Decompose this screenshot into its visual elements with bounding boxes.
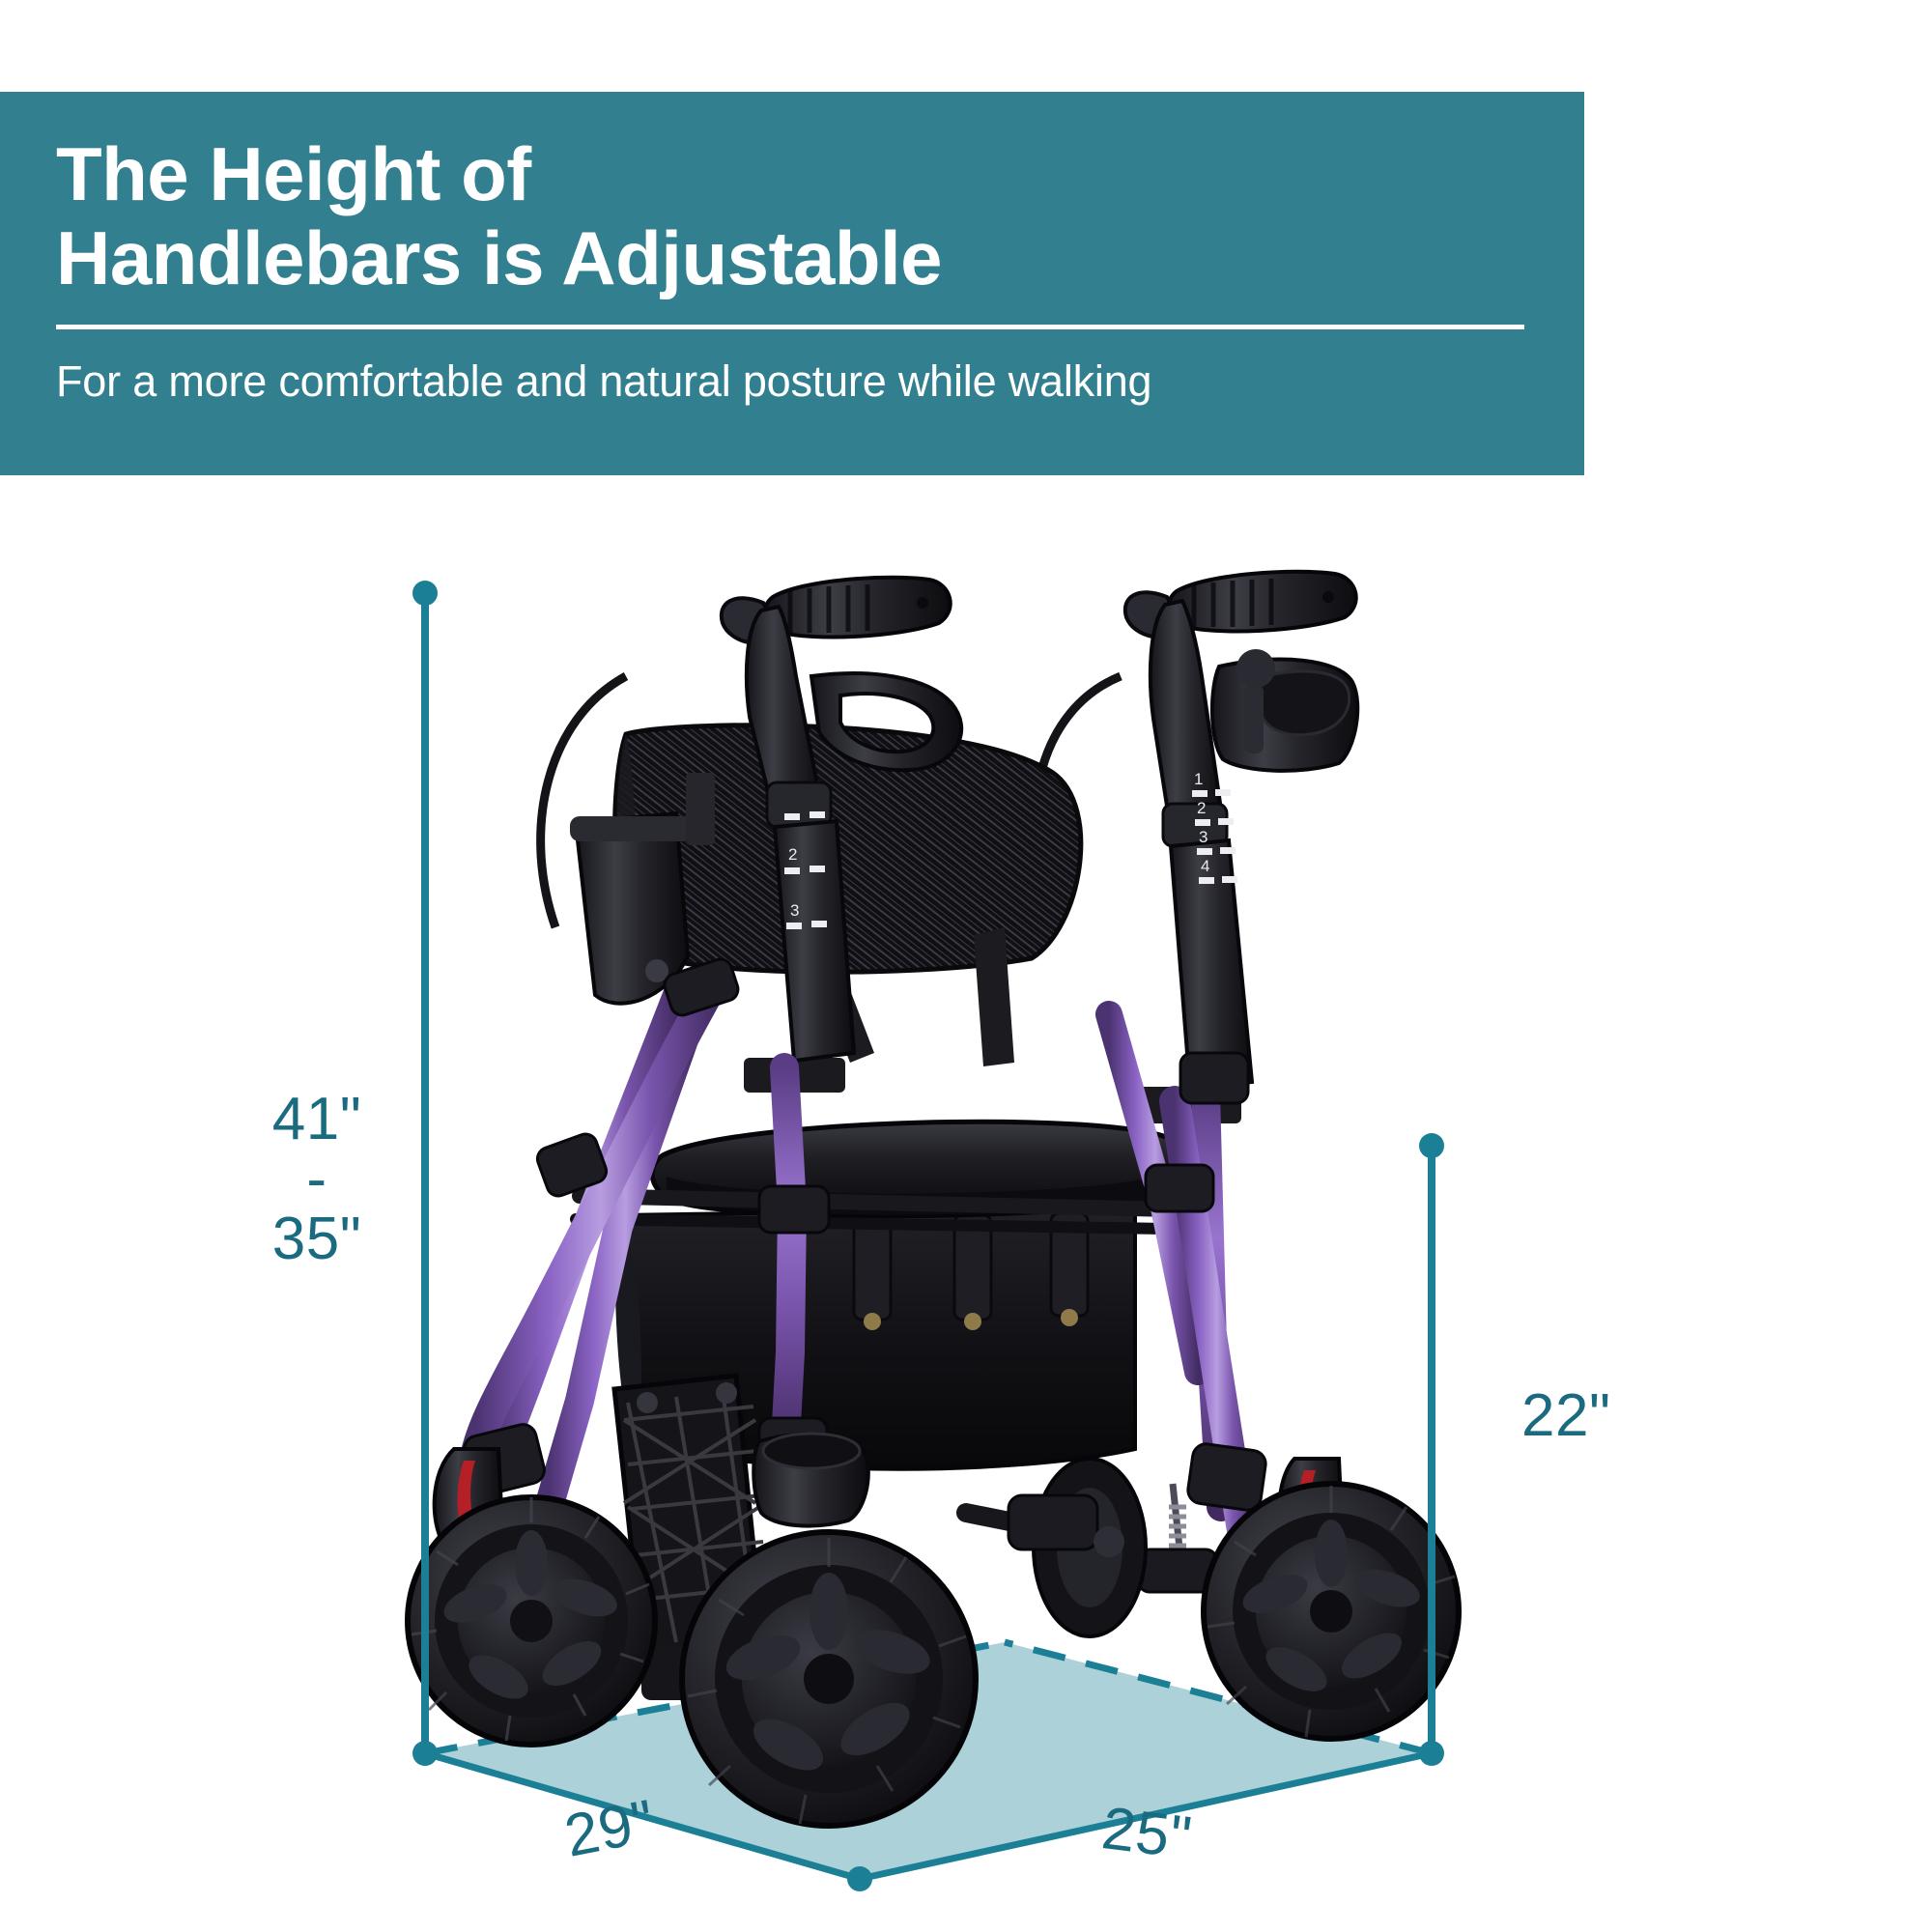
width-left-dimension-label: 29" bbox=[560, 1791, 660, 1867]
lower-cup-holder[interactable] bbox=[753, 1434, 868, 1526]
svg-text:3: 3 bbox=[790, 901, 799, 920]
product-diagram: 2 3 1 bbox=[0, 0, 1932, 1932]
width-right-dimension-label: 25" bbox=[1098, 1799, 1194, 1869]
height-dimension-label: 41" - 35" bbox=[240, 1090, 394, 1269]
backrest-strap bbox=[686, 773, 715, 845]
frame-tube-seat-post-left bbox=[784, 1067, 792, 1461]
handle-grip-right[interactable] bbox=[1168, 572, 1356, 632]
svg-text:2: 2 bbox=[788, 845, 797, 864]
depth-dimension-label: 22" bbox=[1521, 1386, 1610, 1446]
handle-grip-left[interactable] bbox=[764, 578, 951, 638]
svg-text:4: 4 bbox=[1201, 857, 1209, 875]
handle-assembly-right: 1 2 3 4 bbox=[1125, 572, 1357, 1090]
rollator-walker-product: 2 3 1 bbox=[408, 572, 1459, 1826]
rear-wheel bbox=[682, 1532, 976, 1826]
svg-text:1: 1 bbox=[1194, 770, 1203, 788]
cup-holder[interactable] bbox=[1212, 649, 1357, 771]
svg-text:3: 3 bbox=[1199, 828, 1207, 846]
svg-text:2: 2 bbox=[1197, 799, 1206, 817]
front-caster-wheel bbox=[408, 1449, 655, 1745]
